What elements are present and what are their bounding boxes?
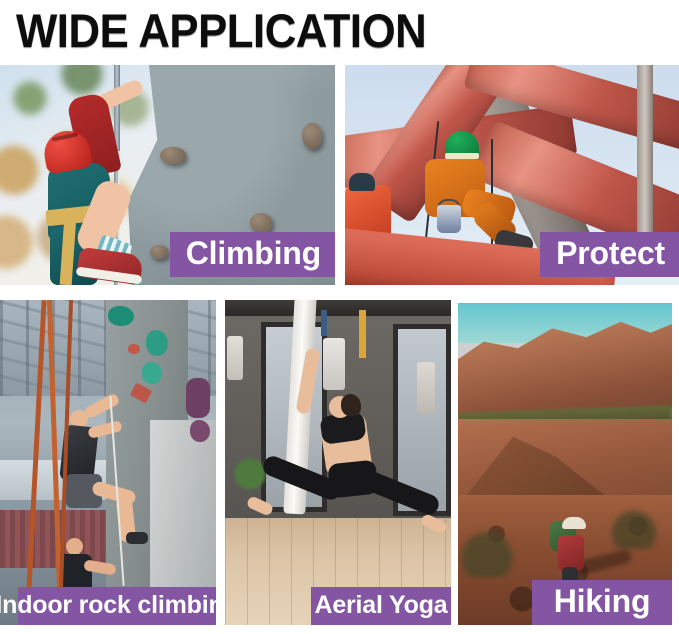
blue-strap xyxy=(321,310,327,336)
ceiling-rig xyxy=(225,300,451,316)
gallery-item-hiking[interactable]: Hiking xyxy=(458,303,672,625)
label-badge-protect: Protect xyxy=(540,232,679,277)
desert-bush xyxy=(458,529,516,577)
support-column xyxy=(637,65,653,235)
potted-plant xyxy=(233,450,267,490)
hiker-hat xyxy=(562,517,586,529)
page-header: WIDE APPLICATION xyxy=(0,0,679,60)
climbing-hold xyxy=(108,306,134,326)
helmet-band xyxy=(445,153,479,159)
climbing-hold xyxy=(128,344,140,354)
climbing-hold xyxy=(142,362,162,384)
climber-shoe xyxy=(126,532,148,544)
climbing-hold xyxy=(146,330,168,356)
gallery-item-aerial-yoga[interactable]: Aerial Yoga xyxy=(225,300,451,625)
hanging-hammock xyxy=(417,362,435,414)
paint-bucket xyxy=(437,205,461,233)
climbing-hold xyxy=(160,147,186,164)
desert-bush xyxy=(608,509,660,549)
climbing-hold xyxy=(190,420,210,442)
climbing-hold xyxy=(302,123,322,149)
label-badge-hiking: Hiking xyxy=(532,580,672,625)
gallery-item-indoor-rock-climbing[interactable]: Indoor rock climbing xyxy=(0,300,216,625)
hanging-hammock xyxy=(323,338,345,390)
gallery-item-climbing[interactable]: Climbing xyxy=(0,65,335,285)
label-badge-climbing: Climbing xyxy=(170,232,335,277)
yogi-hair xyxy=(341,394,361,416)
photo-aerial-yoga xyxy=(225,300,451,625)
photo-indoor-rock-climbing xyxy=(0,300,216,625)
gallery-item-protect[interactable]: Protect xyxy=(345,65,679,285)
yellow-strap xyxy=(359,310,366,358)
hanging-hammock xyxy=(227,336,243,380)
climbing-hold xyxy=(250,213,272,233)
second-worker-helmet xyxy=(349,173,375,191)
belayer-head xyxy=(66,538,83,555)
photo-hiking xyxy=(458,303,672,625)
label-badge-indoor-rock-climbing: Indoor rock climbing xyxy=(18,587,216,625)
hiker-torso xyxy=(558,535,584,571)
climbing-hold xyxy=(186,378,210,418)
climbing-hold xyxy=(150,245,168,259)
page-title: WIDE APPLICATION xyxy=(16,7,426,54)
label-badge-aerial-yoga: Aerial Yoga xyxy=(311,587,451,625)
